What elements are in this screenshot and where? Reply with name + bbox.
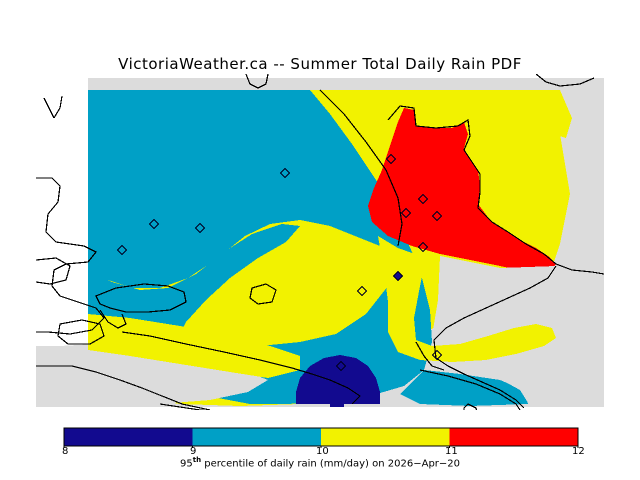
page-title: VictoriaWeather.ca -- Summer Total Daily… [0, 55, 640, 73]
region-8-9-navy-tail [330, 404, 344, 410]
colorbar: 8 9 10 11 12 95th percentile of daily ra… [0, 424, 640, 480]
colorbar-caption-rest: percentile of daily rain (mm/day) on 202… [201, 458, 460, 469]
weather-map-app: VictoriaWeather.ca -- Summer Total Daily… [0, 0, 640, 480]
colorbar-band-9-10 [193, 428, 322, 446]
colorbar-band-10-11 [321, 428, 450, 446]
colorbar-swatches [0, 424, 640, 448]
colorbar-caption: 95th percentile of daily rain (mm/day) o… [0, 456, 640, 469]
colorbar-band-11-12 [450, 428, 579, 446]
colorbar-band-8-9 [64, 428, 193, 446]
colorbar-caption-superscript: th [193, 456, 201, 464]
rainfall-contour-map [0, 74, 640, 410]
colorbar-caption-prefix: 95 [180, 458, 193, 469]
